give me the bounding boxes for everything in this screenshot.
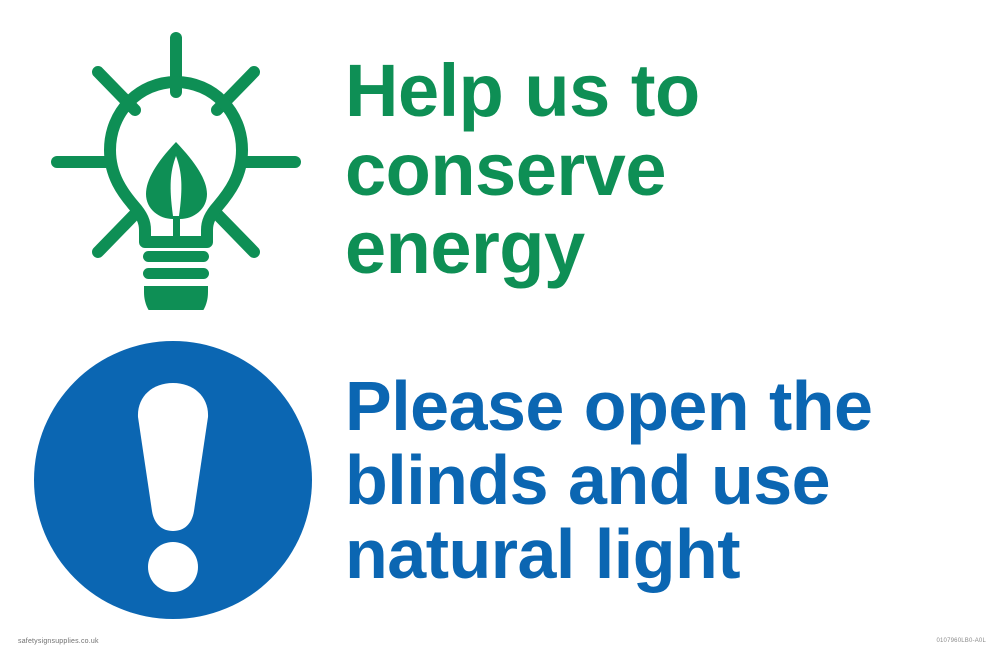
bulb-base-cap xyxy=(144,286,208,310)
exclamation-dot xyxy=(148,542,198,592)
energy-message-row: Help us to conserve energy xyxy=(0,20,1000,320)
bulb-base-band-2 xyxy=(143,268,209,279)
bulb-icon-cell xyxy=(0,20,345,320)
green-text-cell: Help us to conserve energy xyxy=(345,52,1000,287)
product-code-text: 0107960LB0-A0L xyxy=(936,638,986,644)
mandatory-message-row: Please open the blinds and use natural l… xyxy=(0,330,1000,630)
green-headline: Help us to conserve energy xyxy=(345,52,925,287)
blue-headline: Please open the blinds and use natural l… xyxy=(345,369,905,592)
mandatory-icon-cell xyxy=(0,330,345,630)
bulb-base-band-1 xyxy=(143,251,209,262)
supplier-website-text: safetysignsupplies.co.uk xyxy=(18,638,99,645)
safety-sign-canvas: Help us to conserve energy Please open t… xyxy=(0,0,1000,666)
blue-text-cell: Please open the blinds and use natural l… xyxy=(345,369,1000,592)
mandatory-exclamation-icon xyxy=(34,341,312,619)
footer: safetysignsupplies.co.uk 0107960LB0-A0L xyxy=(0,630,1000,666)
energy-saving-lightbulb-icon xyxy=(43,30,303,310)
